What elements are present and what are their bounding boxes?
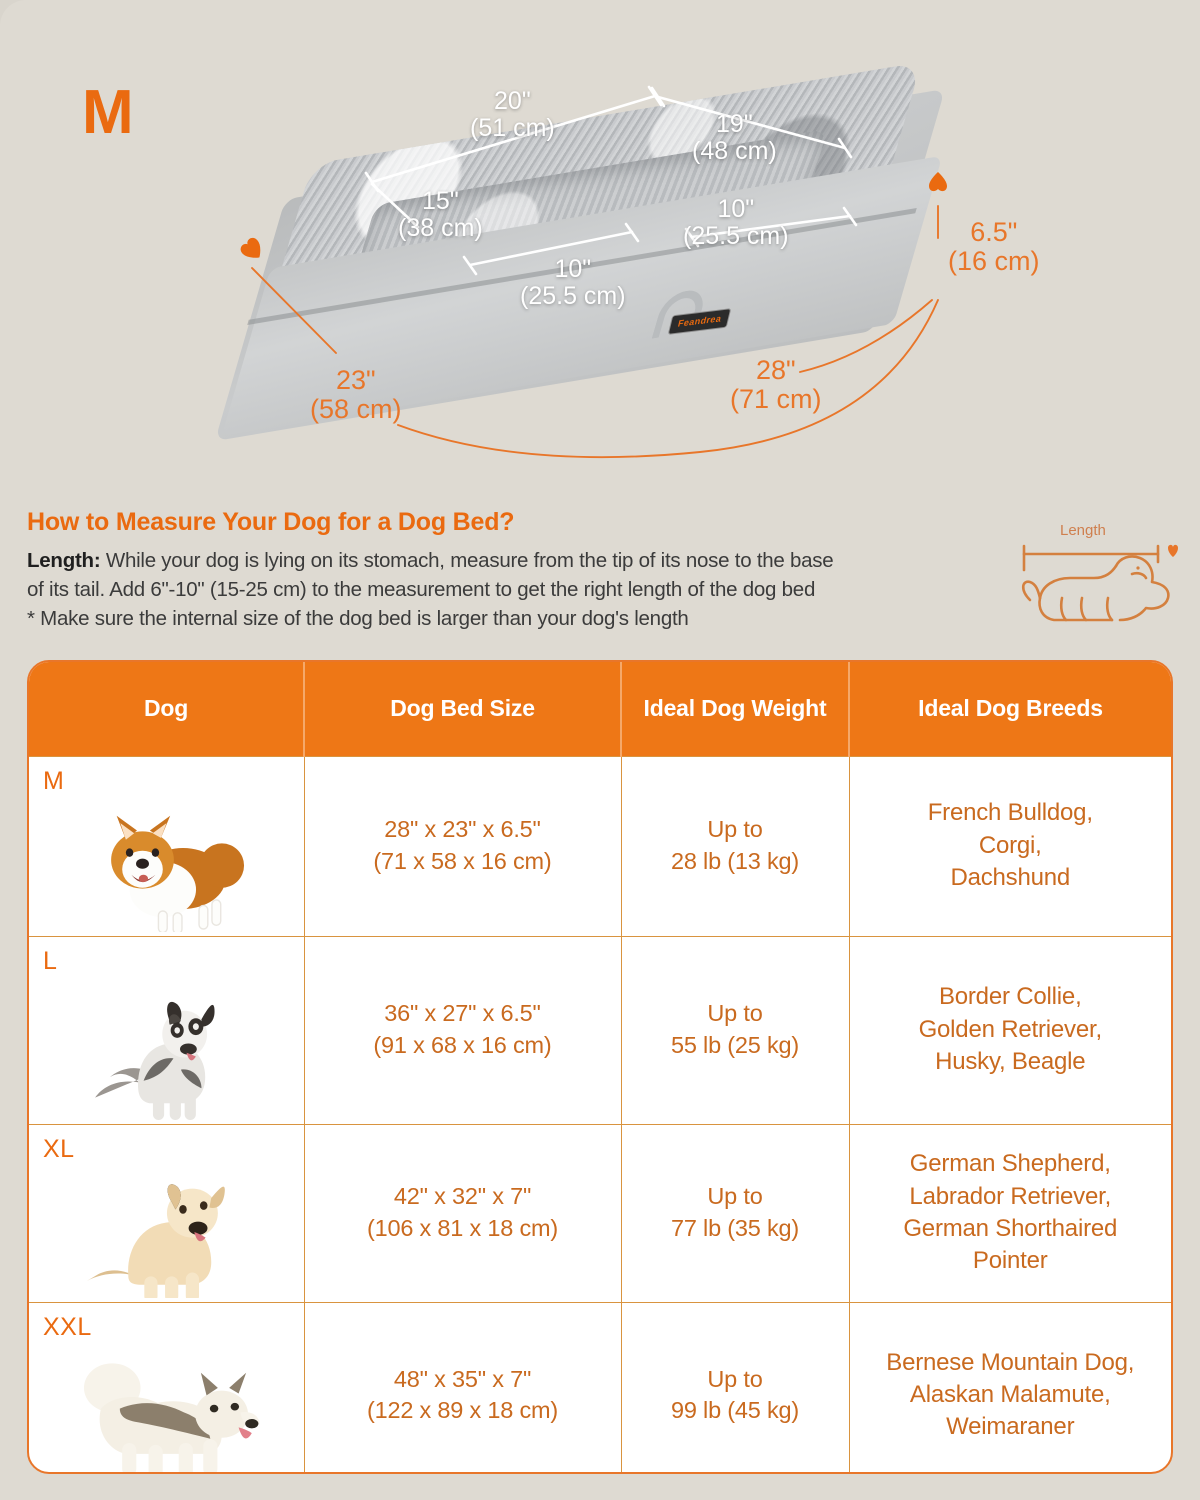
dog-photo-malamute (29, 1309, 304, 1475)
breed-line: Bernese Mountain Dog, (850, 1347, 1172, 1379)
table-cell-breeds: Border Collie, Golden Retriever, Husky, … (849, 936, 1171, 1124)
table-cell-breeds: German Shepherd, Labrador Retriever, Ger… (849, 1124, 1171, 1302)
bed-size-cm: (71 x 58 x 16 cm) (305, 846, 621, 878)
dim-label-length: 28" (71 cm) (730, 356, 822, 413)
bed-size-inches: 48" x 35" x 7" (305, 1364, 621, 1396)
table-header-weight: Ideal Dog Weight (621, 662, 849, 756)
breed-line: Corgi, (850, 830, 1172, 862)
table-row: M (29, 756, 1171, 936)
measure-line-3: * Make sure the internal size of the dog… (27, 607, 689, 630)
dog-length-diagram: Length (1008, 528, 1178, 638)
hero-section: M Feandrea (0, 0, 1200, 495)
weight-prefix: Up to (622, 1364, 849, 1396)
breed-line: German Shepherd, (850, 1148, 1172, 1180)
infographic-page: M Feandrea (0, 0, 1200, 1500)
breed-line: Husky, Beagle (850, 1046, 1172, 1078)
heart-marker-icon (239, 236, 266, 263)
breed-line: German Shorthaired (850, 1213, 1172, 1245)
table-cell-bed-size: 48" x 35" x 7" (122 x 89 x 18 cm) (304, 1302, 621, 1474)
dim-label-depth: 23" (58 cm) (310, 366, 402, 423)
measure-heading: How to Measure Your Dog for a Dog Bed? (27, 508, 514, 537)
table-row: XXL (29, 1302, 1171, 1474)
weight-value: 28 lb (13 kg) (622, 846, 849, 878)
dim-label-height: 6.5" (16 cm) (948, 218, 1040, 275)
table-cell-weight: Up to 77 lb (35 kg) (621, 1124, 849, 1302)
table-cell-bed-size: 36" x 27" x 6.5" (91 x 68 x 16 cm) (304, 936, 621, 1124)
dog-photo-corgi (29, 763, 304, 932)
size-chart-table: Dog Dog Bed Size Ideal Dog Weight Ideal … (27, 660, 1173, 1474)
weight-prefix: Up to (622, 1181, 849, 1213)
spade-marker-icon (929, 172, 947, 191)
table-header-row: Dog Dog Bed Size Ideal Dog Weight Ideal … (29, 662, 1171, 756)
breed-line: Pointer (850, 1245, 1172, 1277)
weight-value: 77 lb (35 kg) (622, 1213, 849, 1245)
table-cell-weight: Up to 55 lb (25 kg) (621, 936, 849, 1124)
table-cell-dog: L (29, 936, 304, 1124)
weight-prefix: Up to (622, 998, 849, 1030)
table-cell-dog: XL (29, 1124, 304, 1302)
weight-value: 55 lb (25 kg) (622, 1030, 849, 1062)
measure-line-1: While your dog is lying on its stomach, … (100, 549, 833, 572)
table-cell-weight: Up to 99 lb (45 kg) (621, 1302, 849, 1474)
table-cell-bed-size: 28" x 23" x 6.5" (71 x 58 x 16 cm) (304, 756, 621, 936)
bed-size-cm: (106 x 81 x 18 cm) (305, 1213, 621, 1245)
breed-line: Alaskan Malamute, (850, 1379, 1172, 1411)
table-cell-breeds: French Bulldog, Corgi, Dachshund (849, 756, 1171, 936)
table-cell-breeds: Bernese Mountain Dog, Alaskan Malamute, … (849, 1302, 1171, 1474)
dog-photo-border-collie (29, 943, 304, 1120)
breed-line: French Bulldog, (850, 797, 1172, 829)
bed-size-cm: (91 x 68 x 16 cm) (305, 1030, 621, 1062)
weight-value: 99 lb (45 kg) (622, 1395, 849, 1427)
table-cell-dog: M (29, 756, 304, 936)
table-cell-dog: XXL (29, 1302, 304, 1474)
bed-size-inches: 28" x 23" x 6.5" (305, 814, 621, 846)
table-row: L (29, 936, 1171, 1124)
table-header-breeds: Ideal Dog Breeds (849, 662, 1171, 756)
table-header-bed-size: Dog Bed Size (304, 662, 621, 756)
bed-size-inches: 36" x 27" x 6.5" (305, 998, 621, 1030)
dog-diagram-length-label: Length (1060, 522, 1106, 539)
bed-size-cm: (122 x 89 x 18 cm) (305, 1395, 621, 1427)
measure-paragraph: Length: While your dog is lying on its s… (27, 546, 982, 633)
bed-size-inches: 42" x 32" x 7" (305, 1181, 621, 1213)
measure-length-label: Length: (27, 549, 100, 572)
dog-outline-icon (1008, 528, 1178, 638)
breed-line: Border Collie, (850, 981, 1172, 1013)
table-cell-weight: Up to 28 lb (13 kg) (621, 756, 849, 936)
table-row: XL (29, 1124, 1171, 1302)
breed-line: Golden Retriever, (850, 1014, 1172, 1046)
table-cell-bed-size: 42" x 32" x 7" (106 x 81 x 18 cm) (304, 1124, 621, 1302)
dog-photo-labrador (29, 1131, 304, 1298)
breed-line: Labrador Retriever, (850, 1181, 1172, 1213)
breed-line: Weimaraner (850, 1411, 1172, 1443)
heart-accent-icon (1168, 545, 1178, 557)
measure-line-2: of its tail. Add 6"-10" (15-25 cm) to th… (27, 578, 815, 601)
weight-prefix: Up to (622, 814, 849, 846)
table-header-dog: Dog (29, 662, 304, 756)
breed-line: Dachshund (850, 862, 1172, 894)
